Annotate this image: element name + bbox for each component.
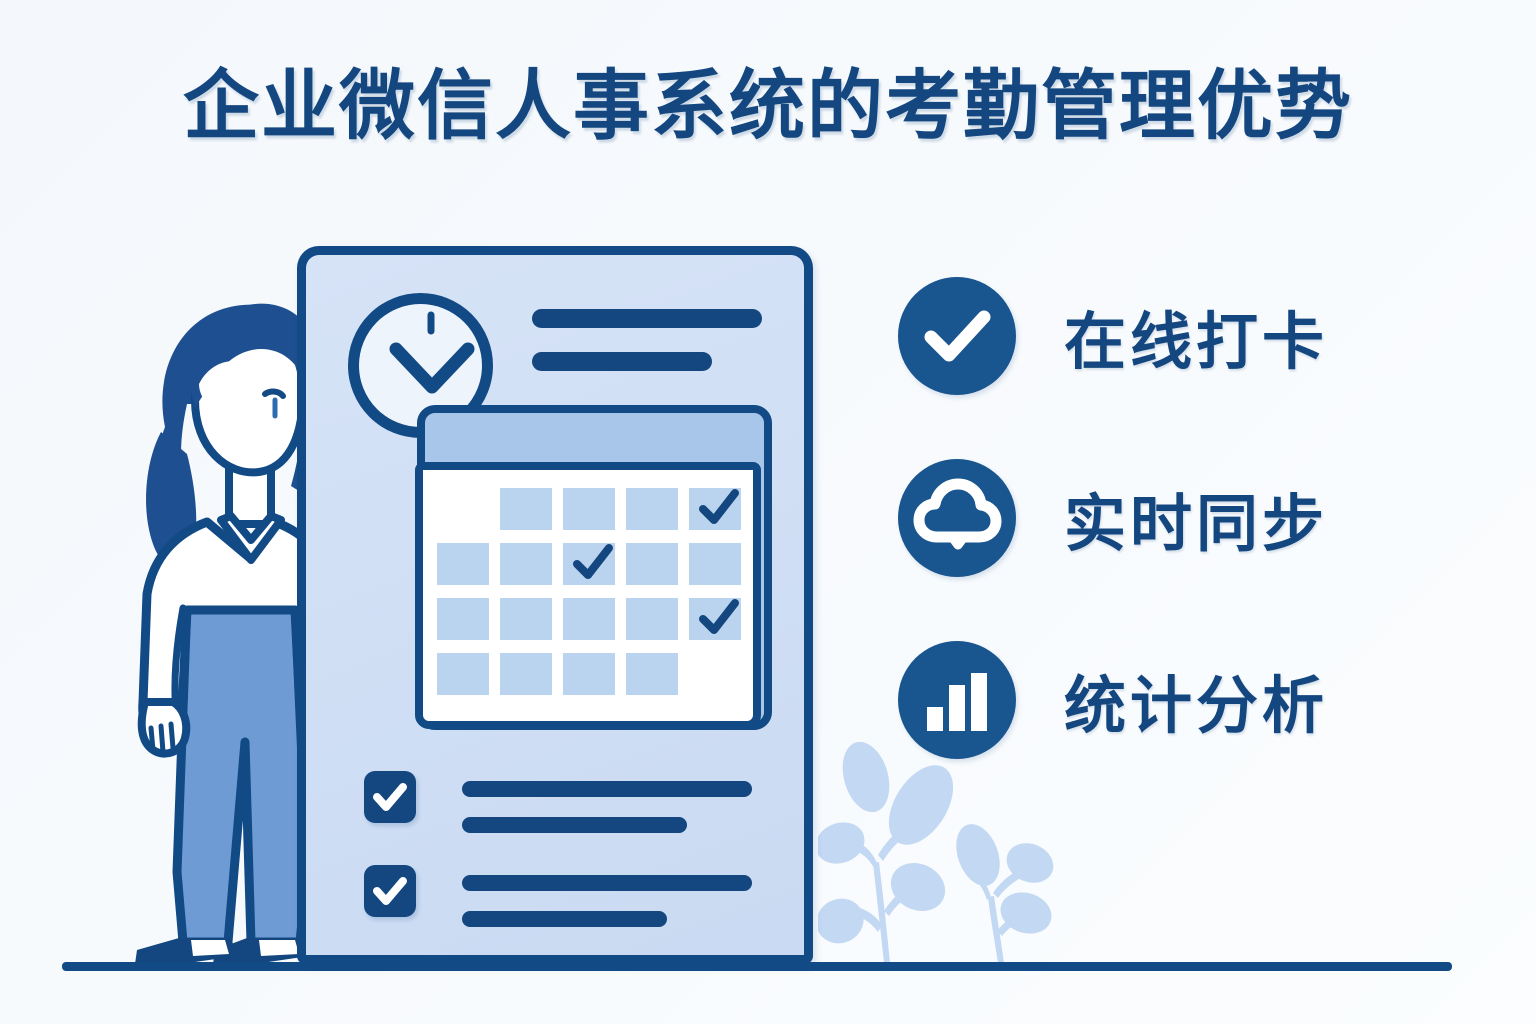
calendar-cell[interactable] [563,598,615,640]
calendar-cell[interactable] [500,488,552,530]
cloud-sync-icon [898,459,1016,577]
check-icon [567,539,615,587]
calendar-cell[interactable] [563,653,615,695]
header-line-long [532,309,762,328]
calendar-cell[interactable] [437,653,489,695]
calendar-cell-checked[interactable] [689,598,741,640]
checkbox-checked-icon[interactable] [364,865,416,917]
feature-label: 在线打卡 [1064,291,1328,381]
calendar-cell-checked[interactable] [563,543,615,585]
calendar-cell [689,653,741,695]
calendar-cell[interactable] [437,598,489,640]
ground-line [62,962,1452,971]
calendar-grid [437,488,745,695]
feature-label: 统计分析 [1064,655,1328,745]
calendar-cell-checked[interactable] [689,488,741,530]
check-icon [693,594,741,642]
calendar-cell[interactable] [563,488,615,530]
list-item-line-short [462,817,687,833]
calendar-cell[interactable] [626,598,678,640]
calendar-cell[interactable] [437,543,489,585]
calendar-cell[interactable] [500,653,552,695]
attendance-calendar [415,462,761,729]
calendar-cell[interactable] [626,543,678,585]
feature-item-realtime-sync[interactable]: 实时同步 [898,458,1458,578]
checkbox-checked-icon[interactable] [364,771,416,823]
list-item-line-long [462,781,752,797]
bar-chart-icon [898,641,1016,759]
calendar-cell[interactable] [626,653,678,695]
calendar-cell[interactable] [689,543,741,585]
calendar-cell [437,488,489,530]
calendar-cell[interactable] [626,488,678,530]
feature-item-online-checkin[interactable]: 在线打卡 [898,276,1458,396]
check-circle-icon [898,277,1016,395]
list-item-line-short [462,911,667,927]
header-line-short [532,352,712,371]
infographic-canvas: 企业微信人事系统的考勤管理优势 [0,0,1536,1024]
check-icon [693,484,741,532]
feature-list: 在线打卡 实时同步 统计分析 [898,276,1458,822]
attendance-card [297,246,813,964]
page-title: 企业微信人事系统的考勤管理优势 [0,62,1536,152]
list-item-line-long [462,875,752,891]
feature-label: 实时同步 [1064,473,1328,563]
calendar-cell[interactable] [500,598,552,640]
feature-item-statistics[interactable]: 统计分析 [898,640,1458,760]
calendar-cell[interactable] [500,543,552,585]
